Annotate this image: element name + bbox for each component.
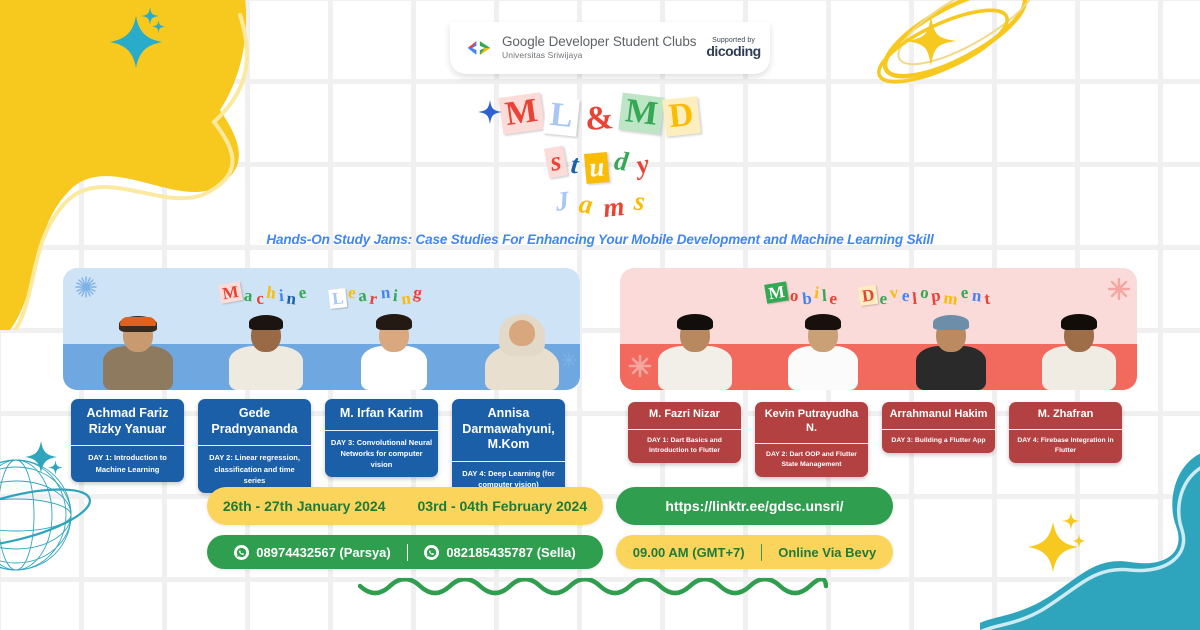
md-speaker-photo-2 (780, 304, 866, 390)
ransom-letter-&: & (579, 100, 620, 140)
whatsapp-icon (234, 545, 249, 560)
contact-1[interactable]: 08974432567 (Parsya) (218, 545, 406, 560)
decor-sparkle-teal-left-small (48, 460, 63, 475)
ransom-letter-g: g (411, 283, 424, 301)
registration-link-pill[interactable]: https://linktr.ee/gdsc.unsri/ (616, 487, 893, 525)
ransom-letter-p: p (929, 286, 942, 304)
dicoding-logo: dicoding (706, 44, 760, 59)
md-speaker-photo-4 (1036, 304, 1122, 390)
ransom-letter-a: a (242, 286, 254, 304)
ransom-letter-e: e (296, 283, 308, 301)
speaker-name: Arrahmanul Hakim (882, 402, 995, 430)
speaker-name: M. Fazri Nizar (628, 402, 741, 430)
ml-speaker-photo-3 (351, 304, 437, 390)
decor-sparkle-cyan-large (108, 14, 164, 70)
speaker-name: Kevin Putrayudha N. (755, 402, 868, 444)
ml-speaker-photo-1 (95, 304, 181, 390)
ransom-letter-r: r (367, 289, 379, 307)
md-track-title: MobileDevelopment (620, 286, 1137, 306)
ml-speaker-photo-4 (479, 304, 565, 390)
decor-sparkle-cyan-small-b (152, 20, 165, 33)
speaker-card-machine-learning-2[interactable]: Gede PradnyanandaDAY 2: Linear regressio… (198, 399, 311, 493)
time-platform-pill: 09.00 AM (GMT+7) Online Via Bevy (616, 535, 893, 569)
contacts-pill: 08974432567 (Parsya) 082185435787 (Sella… (207, 535, 603, 569)
decor-sparkle-teal-left (24, 440, 58, 474)
md-speaker-photo-3 (908, 304, 994, 390)
registration-link-text[interactable]: https://linktr.ee/gdsc.unsri/ (649, 498, 859, 514)
gdsc-logo-pill: Google Developer Student Clubs Universit… (450, 22, 770, 74)
ransom-letter-s: s (628, 186, 650, 218)
ransom-letter-i: i (391, 287, 399, 305)
speaker-card-mobile-development-1[interactable]: M. Fazri NizarDAY 1: Dart Basics and Int… (628, 402, 741, 463)
speaker-session: DAY 3: Convolutional Neural Networks for… (325, 431, 438, 478)
ransom-letter-e: e (878, 290, 889, 308)
date-range-2: 03rd - 04th February 2024 (402, 498, 604, 514)
ransom-letter-v: v (888, 284, 900, 302)
speaker-session: DAY 2: Dart OOP and Flutter State Manage… (755, 444, 868, 477)
speaker-session: DAY 3: Building a Flutter App (882, 430, 995, 453)
speaker-session: DAY 4: Firebase Integration in Flutter (1009, 430, 1122, 463)
ransom-letter-a: a (573, 189, 599, 222)
speaker-name: M. Zhafran (1009, 402, 1122, 430)
ransom-letter-e: e (959, 284, 970, 302)
speaker-name: Gede Pradnyananda (198, 399, 311, 446)
ransom-letter-o: o (788, 286, 800, 304)
title-line-jams: Jams (0, 190, 1200, 220)
speaker-card-machine-learning-4[interactable]: Annisa Darmawahyuni, M.KomDAY 4: Deep Le… (452, 399, 565, 497)
speaker-session: DAY 1: Introduction to Machine Learning (71, 446, 184, 482)
speaker-card-mobile-development-3[interactable]: Arrahmanul HakimDAY 3: Building a Flutte… (882, 402, 995, 453)
md-speaker-photo-1 (652, 304, 738, 390)
ransom-letter-h: h (265, 283, 279, 301)
gdsc-chapter: Universitas Sriwijaya (502, 51, 696, 60)
decor-sparkle-yellow-bottom-right (1026, 520, 1080, 574)
ransom-letter-t: t (983, 290, 992, 308)
ransom-letter-u: u (584, 152, 610, 184)
event-subtitle: Hands-On Study Jams: Case Studies For En… (0, 232, 1200, 247)
speaker-session: DAY 1: Dart Basics and Introduction to F… (628, 430, 741, 463)
speaker-card-mobile-development-4[interactable]: M. ZhafranDAY 4: Firebase Integration in… (1009, 402, 1122, 463)
speaker-card-mobile-development-2[interactable]: Kevin Putrayudha N.DAY 2: Dart OOP and F… (755, 402, 868, 477)
ransom-letter-m: M (764, 281, 789, 303)
decor-yellow-rings-top-right (855, 0, 1055, 108)
contact-2-text: 082185435787 (Sella) (446, 545, 575, 560)
ransom-letter-l: L (543, 96, 579, 136)
speaker-name: M. Irfan Karim (325, 399, 438, 431)
speaker-name: Achmad Fariz Rizky Yanuar (71, 399, 184, 446)
dates-pill: 26th - 27th January 2024 03rd - 04th Feb… (207, 487, 603, 525)
ransom-letter-d: D (662, 96, 700, 136)
ransom-letter-y: y (630, 148, 656, 181)
contact-1-text: 08974432567 (Parsya) (256, 545, 390, 560)
ransom-letter-e: e (827, 289, 839, 307)
ransom-letter-n: n (970, 286, 983, 304)
ransom-letter-m: m (598, 192, 630, 225)
ransom-letter-m: m (941, 289, 959, 308)
decor-green-wave-line (358, 578, 828, 600)
speaker-name: Annisa Darmawahyuni, M.Kom (452, 399, 565, 462)
event-time: 09.00 AM (GMT+7) (617, 545, 761, 560)
contact-2[interactable]: 082185435787 (Sella) (408, 545, 591, 560)
track-panel-machine-learning: MachineLearning (63, 268, 580, 390)
ransom-letter-n: n (379, 284, 392, 302)
title-line-ml-md: ML&MD (0, 98, 1200, 135)
speaker-card-machine-learning-3[interactable]: M. Irfan KarimDAY 3: Convolutional Neura… (325, 399, 438, 477)
decor-sparkle-cyan-small-a (141, 7, 159, 25)
ransom-letter-i: i (277, 287, 285, 304)
ransom-letter-j: J (550, 186, 575, 218)
speaker-session: DAY 2: Linear regression, classification… (198, 446, 311, 493)
track-panel-mobile-development: MobileDevelopment (620, 268, 1137, 390)
date-range-1: 26th - 27th January 2024 (207, 498, 402, 514)
ransom-letter-n: n (284, 289, 297, 307)
ransom-letter-l: L (328, 288, 347, 309)
gdsc-org-name: Google Developer Student Clubs (502, 35, 696, 50)
gdsc-logo-text: Google Developer Student Clubs Universit… (502, 35, 696, 60)
gdsc-code-brackets-icon (466, 39, 492, 57)
speaker-card-machine-learning-1[interactable]: Achmad Fariz Rizky YanuarDAY 1: Introduc… (71, 399, 184, 482)
ransom-letter-m: M (218, 281, 243, 304)
ransom-letter-d: D (858, 285, 879, 306)
decor-sparkle-yellow-small-a (1062, 512, 1080, 530)
ransom-letter-s: s (544, 146, 567, 179)
ml-track-title: MachineLearning (63, 286, 580, 306)
ransom-letter-b: b (800, 290, 813, 308)
whatsapp-icon (424, 545, 439, 560)
sponsor-block: Supported by dicoding (706, 37, 760, 59)
ml-speaker-photo-2 (223, 304, 309, 390)
title-line-study: study (0, 150, 1200, 180)
poster-canvas: Google Developer Student Clubs Universit… (0, 0, 1200, 630)
ransom-letter-m: M (618, 93, 664, 135)
ransom-letter-t: t (566, 149, 585, 180)
ransom-letter-e: e (900, 286, 912, 304)
ransom-letter-m: M (498, 92, 545, 134)
ransom-letter-d: d (608, 146, 633, 179)
decor-sparkle-yellow-small-b (1072, 534, 1086, 548)
event-platform: Online Via Bevy (762, 545, 892, 560)
